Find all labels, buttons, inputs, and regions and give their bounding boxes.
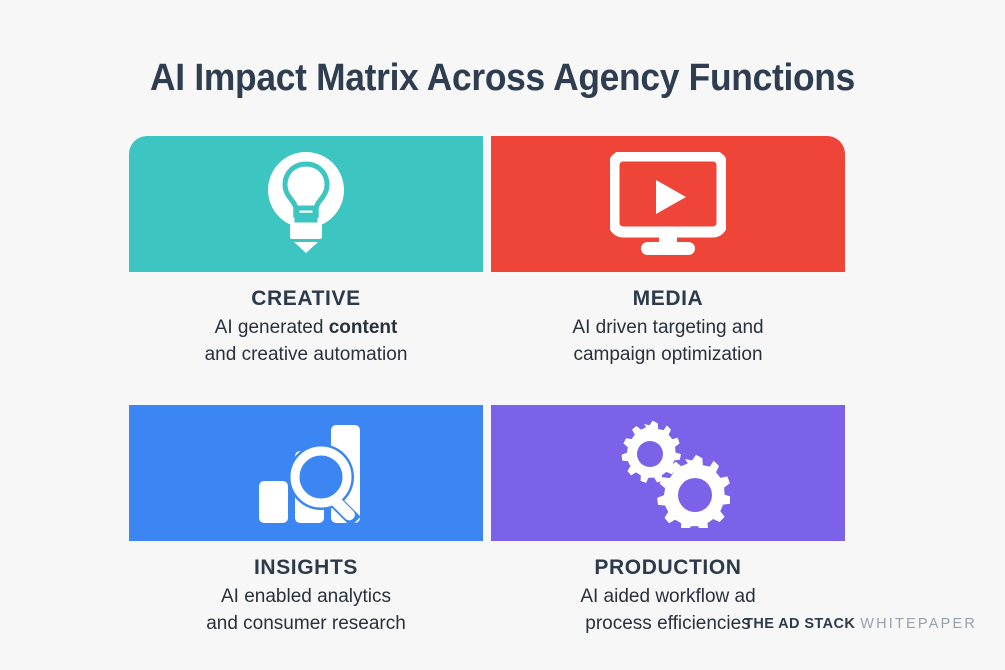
quadrant-media: MEDIA AI driven targeting and campaign o… — [491, 136, 845, 369]
description-creative-line1-bold: content — [329, 317, 398, 338]
description-creative-line2: and creative automation — [205, 344, 408, 365]
row-spacer-right — [491, 369, 845, 405]
label-insights: INSIGHTS — [129, 555, 483, 581]
description-production-line1: AI aided workflow ad — [580, 586, 755, 607]
monitor-play-icon — [491, 152, 845, 256]
bar-chart-search-icon — [129, 419, 483, 527]
label-media: MEDIA — [491, 286, 845, 312]
page-title: AI Impact Matrix Across Agency Functions — [35, 57, 970, 100]
tile-production — [491, 405, 845, 541]
impact-matrix: CREATIVE AI generated content and creati… — [129, 136, 845, 638]
footer-brand: THE AD STACK — [744, 616, 855, 632]
description-media: AI driven targeting and campaign optimiz… — [491, 315, 845, 369]
quadrant-production: PRODUCTION AI aided workflow ad process … — [491, 405, 845, 638]
description-media-line1: AI driven targeting and — [572, 317, 763, 338]
description-production-line2: process efficiencies — [585, 613, 750, 634]
description-insights-line1: AI enabled analytics — [221, 586, 391, 607]
row-spacer-left — [129, 369, 483, 405]
label-production: PRODUCTION — [491, 555, 845, 581]
quadrant-insights: INSIGHTS AI enabled analytics and consum… — [129, 405, 483, 638]
quadrant-creative: CREATIVE AI generated content and creati… — [129, 136, 483, 369]
description-creative-line1-prefix: AI generated — [215, 317, 329, 338]
description-insights-line2: and consumer research — [206, 613, 406, 634]
caption-media: MEDIA AI driven targeting and campaign o… — [491, 272, 845, 369]
description-insights: AI enabled analytics and consumer resear… — [129, 584, 483, 638]
caption-creative: CREATIVE AI generated content and creati… — [129, 272, 483, 369]
description-creative: AI generated content and creative automa… — [129, 315, 483, 369]
tile-insights — [129, 405, 483, 541]
tile-creative — [129, 136, 483, 272]
footer-kind: WHITEPAPER — [860, 616, 977, 632]
description-media-line2: campaign optimization — [573, 344, 762, 365]
label-creative: CREATIVE — [129, 286, 483, 312]
caption-insights: INSIGHTS AI enabled analytics and consum… — [129, 541, 483, 638]
footer-branding: THE AD STACKWHITEPAPER — [744, 616, 977, 632]
gears-icon — [491, 418, 845, 528]
lightbulb-icon — [129, 150, 483, 258]
tile-media — [491, 136, 845, 272]
